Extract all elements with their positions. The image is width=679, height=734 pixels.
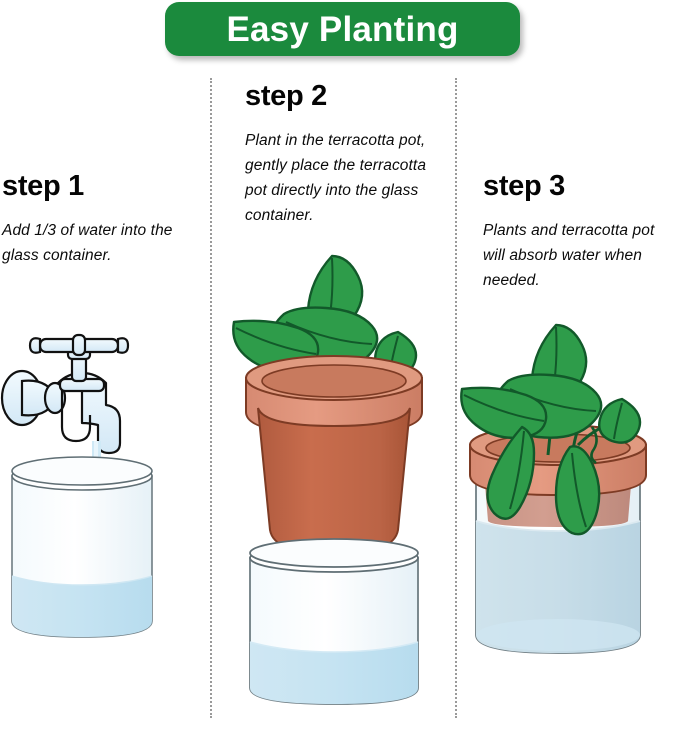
step-2-title: step 2 bbox=[245, 82, 327, 111]
step-3-illustration bbox=[462, 325, 679, 720]
banner-title: Easy Planting bbox=[226, 12, 458, 47]
glass-container-icon bbox=[12, 457, 152, 637]
banner-easy-planting: Easy Planting bbox=[165, 2, 520, 56]
faucet-icon bbox=[2, 335, 128, 453]
column-divider-left bbox=[210, 78, 212, 718]
terracotta-pot-icon bbox=[246, 356, 422, 554]
step-1-title: step 1 bbox=[2, 172, 84, 201]
step-2-description: Plant in the terracotta pot, gently plac… bbox=[245, 128, 430, 228]
step-2-illustration bbox=[228, 240, 456, 720]
step-1-description: Add 1/3 of water into the glass containe… bbox=[2, 218, 192, 268]
step-3-title: step 3 bbox=[483, 172, 565, 201]
step-3-description: Plants and terracotta pot will absorb wa… bbox=[483, 218, 673, 293]
infographic-canvas: Easy Planting step 1 Add 1/3 of water in… bbox=[0, 0, 679, 734]
glass-container-icon bbox=[250, 539, 418, 704]
step-1-illustration bbox=[0, 325, 210, 655]
